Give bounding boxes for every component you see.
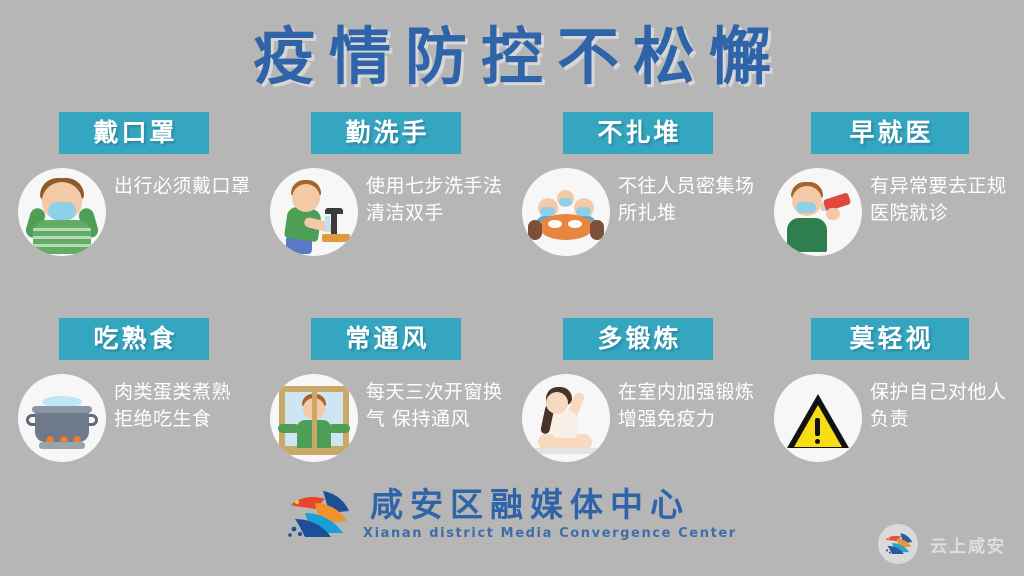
brand-name-cn: 咸安区融媒体中心 xyxy=(363,487,737,523)
tip-desc-1: 出行必须戴口罩 xyxy=(114,168,252,200)
brand-text: 咸安区融媒体中心 Xianan district Media Convergen… xyxy=(363,487,737,543)
tip-desc-4: 有异常要去正规医院就诊 xyxy=(870,168,1008,227)
tips-row-1: 戴口罩 出行必须戴口罩 xyxy=(8,112,1016,256)
tip-card-4: 早就医 有异常要去正规医院就诊 xyxy=(764,112,1016,256)
tip-card-8: 莫轻视 保护自己对他人负责 xyxy=(764,318,1016,462)
crowd-gathering-table-icon xyxy=(522,168,610,256)
page-title: 疫情防控不松懈 xyxy=(0,18,1024,96)
tip-banner-4: 早就医 xyxy=(811,112,969,154)
tip-card-1: 戴口罩 出行必须戴口罩 xyxy=(8,112,260,256)
tip-desc-7: 在室内加强锻炼 增强免疫力 xyxy=(618,374,756,433)
tips-grid: 戴口罩 出行必须戴口罩 xyxy=(8,112,1016,462)
tip-desc-2: 使用七步洗手法清洁双手 xyxy=(366,168,504,227)
tip-body-1: 出行必须戴口罩 xyxy=(8,168,260,256)
washing-hands-faucet-icon xyxy=(270,168,358,256)
brand-name-en: Xianan district Media Convergence Center xyxy=(363,526,737,543)
person-wearing-mask-icon xyxy=(18,168,106,256)
warning-triangle-icon xyxy=(774,374,862,462)
tip-banner-7: 多锻炼 xyxy=(563,318,713,360)
thermometer-checkup-icon xyxy=(774,168,862,256)
tip-body-8: 保护自己对他人负责 xyxy=(764,374,1016,462)
tip-banner-8: 莫轻视 xyxy=(811,318,969,360)
tip-banner-5: 吃熟食 xyxy=(59,318,209,360)
tip-body-5: 肉类蛋类煮熟 拒绝吃生食 xyxy=(8,374,260,462)
tip-card-3: 不扎堆 xyxy=(512,112,764,256)
tip-card-6: 常通风 每天三次开窗换气 保持通风 xyxy=(260,318,512,462)
bird-logo-icon xyxy=(285,489,351,541)
tip-desc-8: 保护自己对他人负责 xyxy=(870,374,1008,433)
tip-body-7: 在室内加强锻炼 增强免疫力 xyxy=(512,374,764,462)
tip-body-3: 不往人员密集场所扎堆 xyxy=(512,168,764,256)
tip-body-6: 每天三次开窗换气 保持通风 xyxy=(260,374,512,462)
yoga-exercise-icon xyxy=(522,374,610,462)
tip-body-2: 使用七步洗手法清洁双手 xyxy=(260,168,512,256)
tip-desc-3: 不往人员密集场所扎堆 xyxy=(618,168,756,227)
tip-card-5: 吃熟食 肉类蛋类煮熟 拒绝吃生食 xyxy=(8,318,260,462)
tip-desc-6: 每天三次开窗换气 保持通风 xyxy=(366,374,504,433)
tip-card-7: 多锻炼 在室内加强锻炼 增强免疫力 xyxy=(512,318,764,462)
watermark: 云上咸安 xyxy=(878,524,1006,564)
footer-logo: 咸安区融媒体中心 Xianan district Media Convergen… xyxy=(285,487,737,543)
tip-banner-3: 不扎堆 xyxy=(563,112,713,154)
tip-card-2: 勤洗手 使用七步洗手法清洁双手 xyxy=(260,112,512,256)
tip-body-4: 有异常要去正规医院就诊 xyxy=(764,168,1016,256)
cooking-pot-stove-icon xyxy=(18,374,106,462)
tip-banner-6: 常通风 xyxy=(311,318,461,360)
bird-logo-badge-icon xyxy=(878,524,918,564)
tip-desc-5: 肉类蛋类煮熟 拒绝吃生食 xyxy=(114,374,252,433)
tip-banner-2: 勤洗手 xyxy=(311,112,461,154)
poster-root: 疫情防控不松懈 戴口罩 xyxy=(0,0,1024,576)
tips-row-2: 吃熟食 肉类蛋类煮熟 拒绝吃生食 xyxy=(8,318,1016,462)
tip-banner-1: 戴口罩 xyxy=(59,112,209,154)
watermark-text: 云上咸安 xyxy=(930,532,1006,557)
open-window-ventilation-icon xyxy=(270,374,358,462)
